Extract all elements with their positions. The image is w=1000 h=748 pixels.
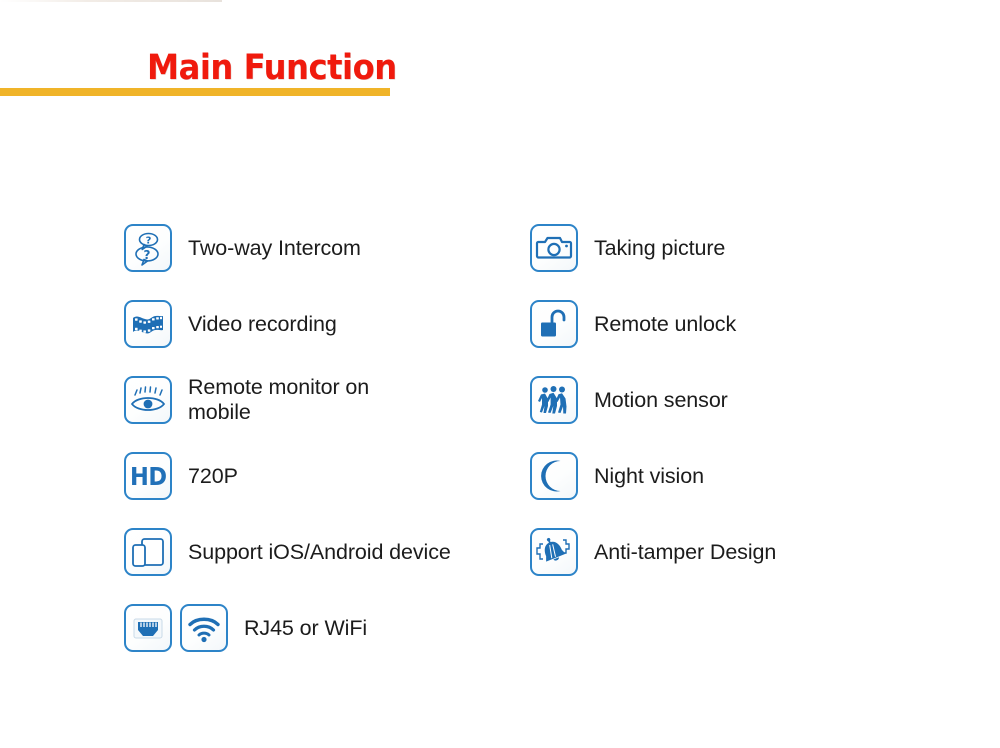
icon-group — [124, 300, 172, 348]
film-strip-icon — [124, 300, 172, 348]
icon-group — [530, 528, 578, 576]
icon-group — [530, 224, 578, 272]
camera-icon — [530, 224, 578, 272]
page-title: Main Function — [147, 49, 397, 87]
feature-label: Night vision — [594, 464, 704, 489]
svg-text:?: ? — [144, 248, 151, 262]
feature-item-video-recording[interactable]: Video recording — [124, 286, 524, 362]
walking-people-icon — [530, 376, 578, 424]
eye-icon — [124, 376, 172, 424]
icon-group — [124, 604, 228, 652]
icon-group: HD — [124, 452, 172, 500]
feature-column-left: ? ? Two-way Intercom — [124, 210, 524, 666]
feature-item-rj45-wifi[interactable]: RJ45 or WiFi — [124, 590, 524, 666]
alarm-bell-icon — [530, 528, 578, 576]
feature-label: Remote unlock — [594, 312, 736, 337]
icon-group — [124, 528, 172, 576]
feature-label: Remote monitor on mobile — [188, 375, 403, 425]
feature-label: Anti-tamper Design — [594, 540, 776, 565]
feature-item-two-way-intercom[interactable]: ? ? Two-way Intercom — [124, 210, 524, 286]
title-underline-rule — [0, 88, 390, 96]
icon-group — [124, 376, 172, 424]
feature-item-anti-tamper[interactable]: Anti-tamper Design — [530, 514, 950, 590]
icon-group — [530, 452, 578, 500]
icon-group — [530, 300, 578, 348]
feature-item-ios-android[interactable]: Support iOS/Android device — [124, 514, 524, 590]
feature-item-taking-picture[interactable]: Taking picture — [530, 210, 950, 286]
feature-label: Taking picture — [594, 236, 725, 261]
speech-bubbles-question-icon: ? ? — [124, 224, 172, 272]
svg-text:?: ? — [146, 236, 152, 247]
feature-label: Video recording — [188, 312, 337, 337]
feature-label: Support iOS/Android device — [188, 540, 451, 565]
feature-label: 720P — [188, 464, 238, 489]
page-header: Main Function — [0, 0, 1000, 110]
wifi-signal-icon — [180, 604, 228, 652]
feature-item-720p[interactable]: HD 720P — [124, 438, 524, 514]
feature-item-remote-unlock[interactable]: Remote unlock — [530, 286, 950, 362]
hd-badge-text: HD — [130, 464, 167, 489]
tablet-phone-icon — [124, 528, 172, 576]
hd-badge-icon: HD — [124, 452, 172, 500]
icon-group — [530, 376, 578, 424]
feature-item-motion-sensor[interactable]: Motion sensor — [530, 362, 950, 438]
feature-label: Two-way Intercom — [188, 236, 361, 261]
icon-group: ? ? — [124, 224, 172, 272]
feature-item-remote-monitor[interactable]: Remote monitor on mobile — [124, 362, 524, 438]
open-padlock-icon — [530, 300, 578, 348]
rj45-connector-icon — [124, 604, 172, 652]
feature-item-night-vision[interactable]: Night vision — [530, 438, 950, 514]
feature-label: RJ45 or WiFi — [244, 616, 367, 641]
feature-label: Motion sensor — [594, 388, 728, 413]
crescent-moon-icon — [530, 452, 578, 500]
feature-column-right: Taking picture Remote unlock — [530, 210, 950, 590]
